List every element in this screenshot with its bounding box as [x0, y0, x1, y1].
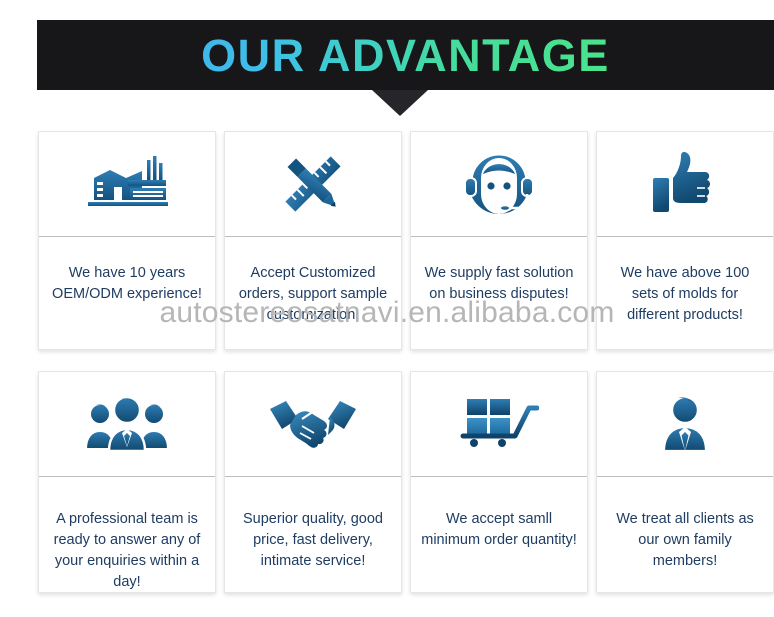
advantage-card-customization[interactable]: Accept Customized orders, support sample… — [224, 131, 402, 350]
section-banner: OUR ADVANTAGE — [37, 20, 774, 90]
businessman-icon — [597, 372, 773, 477]
advantage-card-factory[interactable]: We have 10 years OEM/ODM experience! — [38, 131, 216, 350]
advantage-card-text: Accept Customized orders, support sample… — [225, 237, 401, 349]
advantage-card-moq[interactable]: We accept samll minimum order quantity! — [410, 371, 588, 593]
thumbs-up-icon — [597, 132, 773, 237]
advantage-card-text: Superior quality, good price, fast deliv… — [225, 477, 401, 592]
pencil-ruler-icon — [225, 132, 401, 237]
advantage-card-text: We supply fast solution on business disp… — [411, 237, 587, 349]
advantage-card-support[interactable]: We supply fast solution on business disp… — [410, 131, 588, 350]
triangle-down-icon — [372, 90, 428, 116]
hand-truck-boxes-icon — [411, 372, 587, 477]
advantage-card-quality[interactable]: Superior quality, good price, fast deliv… — [224, 371, 402, 593]
headset-support-icon — [411, 132, 587, 237]
page-title: OUR ADVANTAGE — [201, 33, 610, 78]
advantage-card-text: We have above 100 sets of molds for diff… — [597, 237, 773, 349]
advantage-card-text: We treat all clients as our own family m… — [597, 477, 773, 592]
handshake-icon — [225, 372, 401, 477]
team-group-icon — [39, 372, 215, 477]
advantage-card-text: A professional team is ready to answer a… — [39, 477, 215, 601]
advantage-card-text: We have 10 years OEM/ODM experience! — [39, 237, 215, 349]
advantage-card-molds[interactable]: We have above 100 sets of molds for diff… — [596, 131, 774, 350]
advantage-section: OUR ADVANTAGE — [0, 0, 774, 617]
card-row-2: A professional team is ready to answer a… — [38, 371, 774, 593]
advantage-card-clients[interactable]: We treat all clients as our own family m… — [596, 371, 774, 593]
card-row-1: We have 10 years OEM/ODM experience! — [38, 131, 774, 350]
advantage-card-team[interactable]: A professional team is ready to answer a… — [38, 371, 216, 593]
advantage-card-text: We accept samll minimum order quantity! — [411, 477, 587, 592]
factory-icon — [39, 132, 215, 237]
advantage-card-grid: We have 10 years OEM/ODM experience! — [38, 131, 774, 593]
